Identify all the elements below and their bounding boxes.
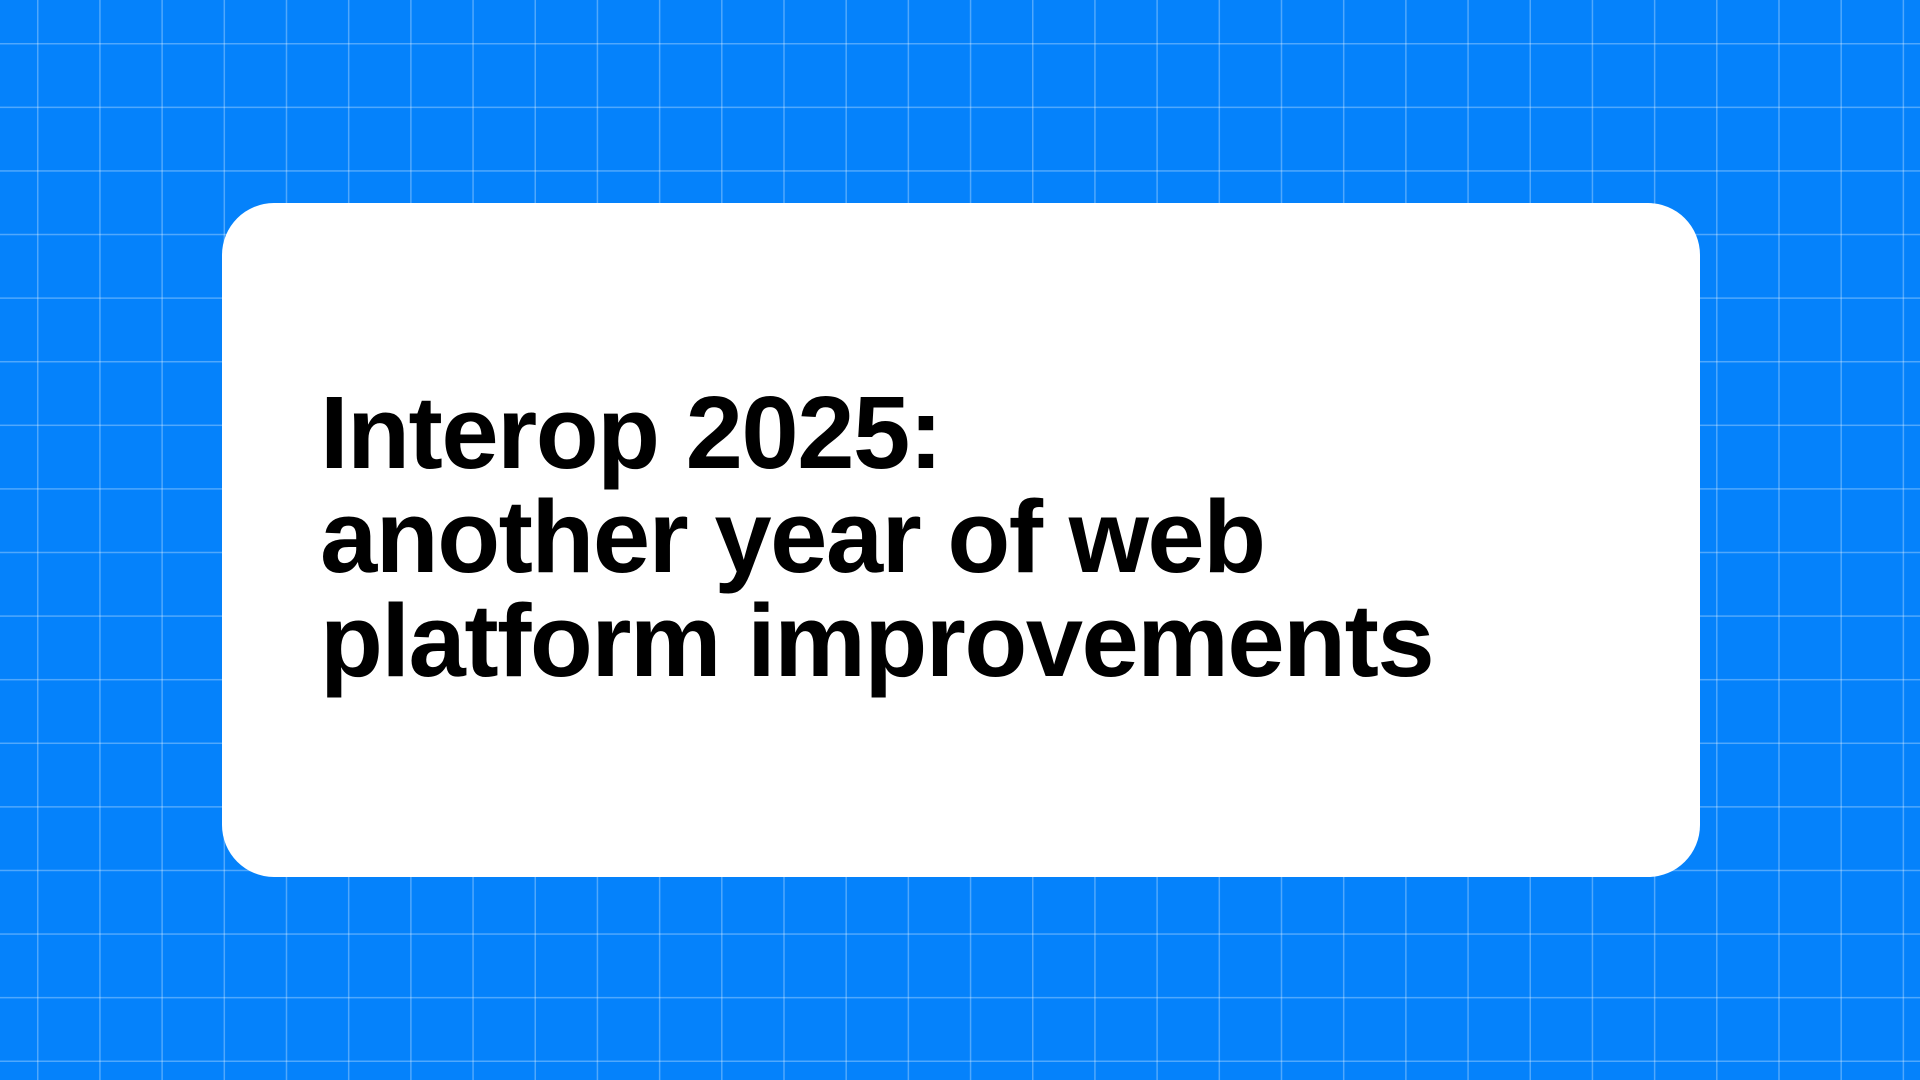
title-line-2: another year of web (320, 485, 1700, 589)
title-line-3: platform improvements (320, 589, 1700, 693)
page-title: Interop 2025: another year of web platfo… (222, 381, 1700, 693)
page-root: Interop 2025: another year of web platfo… (0, 0, 1920, 1080)
title-line-1: Interop 2025: (320, 381, 1700, 485)
title-card: Interop 2025: another year of web platfo… (222, 203, 1700, 877)
